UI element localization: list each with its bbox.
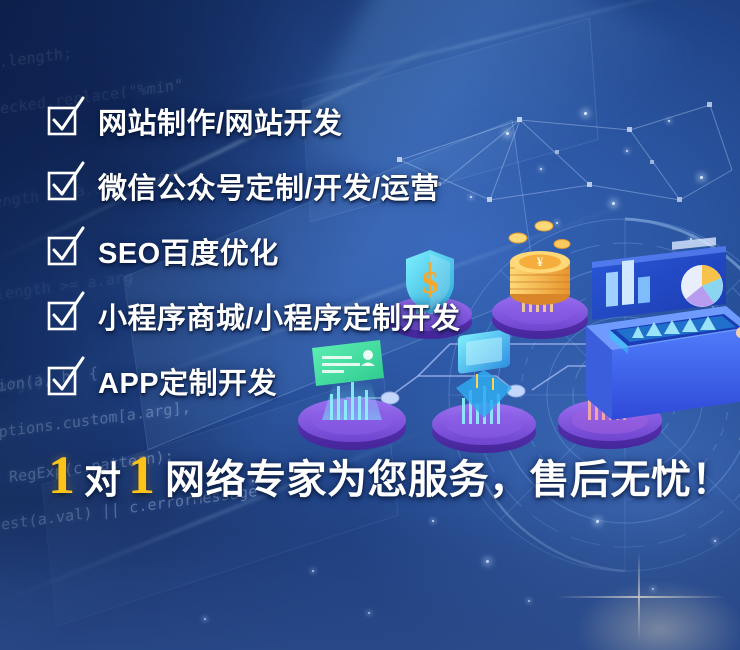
- bottom-haze: [0, 500, 740, 650]
- checked-checkbox-icon: [48, 302, 76, 330]
- checked-checkbox-icon: [48, 367, 76, 395]
- headline: 1 对 1 网络专家为您服务，售后无忧！: [48, 448, 732, 502]
- checklist-item[interactable]: 小程序商城/小程序定制开发: [48, 293, 688, 339]
- headline-rest: 网络专家为您服务，售后无忧！: [165, 460, 732, 500]
- service-banner: g.getElementsByTagName("input[type=check…: [0, 0, 740, 650]
- checked-checkbox-icon: [48, 107, 76, 135]
- checked-checkbox-icon: [48, 237, 76, 265]
- service-checklist: 网站制作/网站开发 微信公众号定制/开发/运营 SEO百度优化: [48, 98, 688, 404]
- checklist-item-label: APP定制开发: [98, 360, 277, 402]
- checklist-item[interactable]: APP定制开发: [48, 358, 688, 404]
- headline-number-first: 1: [48, 448, 75, 502]
- checklist-item-label: 网站制作/网站开发: [98, 100, 343, 142]
- checklist-item-label: 微信公众号定制/开发/运营: [98, 165, 440, 207]
- headline-number-second: 1: [128, 448, 155, 502]
- checklist-item[interactable]: 网站制作/网站开发: [48, 98, 688, 144]
- checklist-item[interactable]: 微信公众号定制/开发/运营: [48, 163, 688, 209]
- checklist-item-label: 小程序商城/小程序定制开发: [98, 295, 461, 337]
- checklist-item[interactable]: SEO百度优化: [48, 228, 688, 274]
- headline-middle-word: 对: [84, 462, 121, 499]
- checklist-item-label: SEO百度优化: [98, 230, 279, 272]
- checked-checkbox-icon: [48, 172, 76, 200]
